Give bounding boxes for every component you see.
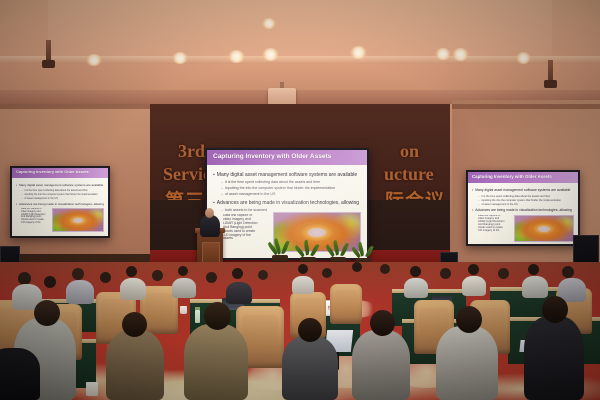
audience-head <box>152 270 163 281</box>
audience-person-foreground <box>352 330 410 400</box>
audience-head <box>528 264 539 275</box>
downlight <box>435 48 451 60</box>
slide-subbullet: inputting the into the computer system t… <box>21 193 105 196</box>
downlight <box>262 18 276 29</box>
slide-bullet: Advances are being made in visualization… <box>213 200 363 206</box>
audience-head <box>468 264 479 275</box>
slide-figure <box>514 215 574 242</box>
downlight <box>86 54 102 66</box>
audience-head <box>206 272 217 283</box>
audience-head <box>204 302 231 330</box>
slide-figure <box>52 208 104 232</box>
audience-person <box>120 278 146 300</box>
audience-person-foreground <box>524 316 584 400</box>
audience-person <box>172 278 196 298</box>
wall-trim <box>452 104 600 109</box>
audience-head <box>126 266 137 277</box>
audience-head <box>44 276 56 288</box>
presenter-head <box>205 208 214 218</box>
banner-line1-left: 3rd <box>178 141 205 162</box>
audience-person-foreground <box>106 330 164 400</box>
audience-head <box>498 268 509 279</box>
slide-title: Capturing Inventory with Older Assets <box>213 153 363 160</box>
potted-plant <box>272 238 288 264</box>
audience-head <box>298 264 308 274</box>
water-bottle <box>195 310 200 323</box>
audience-person <box>292 276 314 294</box>
slide-side-column: Data link capture of video imagery and L… <box>478 215 508 233</box>
downlight <box>516 52 531 64</box>
audience-person-foreground <box>282 336 338 400</box>
tea-cup <box>180 306 187 314</box>
audience-person-foreground <box>436 326 498 400</box>
ceiling-recess <box>48 0 552 60</box>
audience-head <box>456 306 482 333</box>
downlight <box>350 46 367 59</box>
slide-right: Capturing Inventory with Older Assets Ma… <box>468 172 578 244</box>
audience-person <box>462 276 486 296</box>
slide-subbullet: of asset management in the US <box>478 203 574 206</box>
slide-side-column: Data link capture of video imagery and L… <box>21 208 47 225</box>
right-projection-screen: Capturing Inventory with Older Assets Ma… <box>466 170 580 246</box>
audience-person <box>404 278 428 298</box>
slide-bullet: Advances are being made in visualization… <box>472 208 574 212</box>
slide-bullet: Many digital asset management software s… <box>213 172 363 178</box>
downlight <box>172 52 188 64</box>
banner-line1-right: on <box>400 141 419 162</box>
downlight <box>262 48 279 61</box>
downlight <box>228 50 245 63</box>
audience-head <box>298 318 322 342</box>
ceiling <box>0 0 600 96</box>
audience-head <box>380 264 390 274</box>
audience-head <box>562 266 574 278</box>
audience-person-foreground <box>184 324 248 400</box>
audience-head <box>100 272 111 283</box>
slide-subbullet: it is the time spent collecting data abo… <box>221 180 363 184</box>
slide-left: Capturing Inventory with Older Assets Ma… <box>12 168 108 236</box>
audience-head <box>72 268 84 280</box>
audience-head <box>440 268 451 279</box>
slide-subbullet: it is the time spent collecting data abo… <box>478 195 574 198</box>
audience-head <box>122 312 147 337</box>
slide-title: Capturing Inventory with Older Assets <box>16 169 104 174</box>
audience-person-foreground <box>0 348 40 400</box>
slide-subbullet: of asset management in the US <box>221 192 363 196</box>
slide-bullet: Many digital asset management software s… <box>16 183 104 187</box>
slide-bullet: Many digital asset management software s… <box>472 188 574 192</box>
conference-hall-photo: 3rd on Service ucture 第三届 际会议 Capturing … <box>0 0 600 400</box>
audience-person <box>522 276 548 298</box>
tea-cup <box>86 382 98 396</box>
slide-title: Capturing Inventory with Older Assets <box>472 174 572 179</box>
slide-subbullet: inputting the into the computer system t… <box>478 199 574 202</box>
ceiling-spotlight <box>46 40 51 62</box>
slide-subbullet: of asset management in the US <box>21 197 105 200</box>
audience-head <box>34 300 60 326</box>
left-projection-screen: Capturing Inventory with Older Assets Ma… <box>10 166 110 238</box>
chair <box>330 284 362 324</box>
slide-subbullet: inputting the into the computer system t… <box>221 186 363 190</box>
audience-head <box>258 270 268 280</box>
audience-head <box>370 310 395 336</box>
audience-head <box>232 268 243 279</box>
presenter <box>200 215 220 237</box>
slide-subbullet: it is the time spent collecting data abo… <box>21 189 105 192</box>
audience-head <box>542 296 568 323</box>
ceiling-spotlight <box>548 60 553 82</box>
slide-side-column: Data link capture of video imagery and L… <box>223 214 267 241</box>
downlight <box>452 48 469 61</box>
slide-bullet: Advances are being made in visualization… <box>16 202 104 206</box>
audience-head <box>322 268 332 278</box>
audience-head <box>178 266 188 276</box>
wall-trim <box>0 104 160 109</box>
audience-person <box>226 282 252 304</box>
banner-line2-right: ucture <box>384 164 434 185</box>
audience-person <box>66 280 94 304</box>
audience-head <box>352 262 362 272</box>
audience-head <box>410 266 421 277</box>
